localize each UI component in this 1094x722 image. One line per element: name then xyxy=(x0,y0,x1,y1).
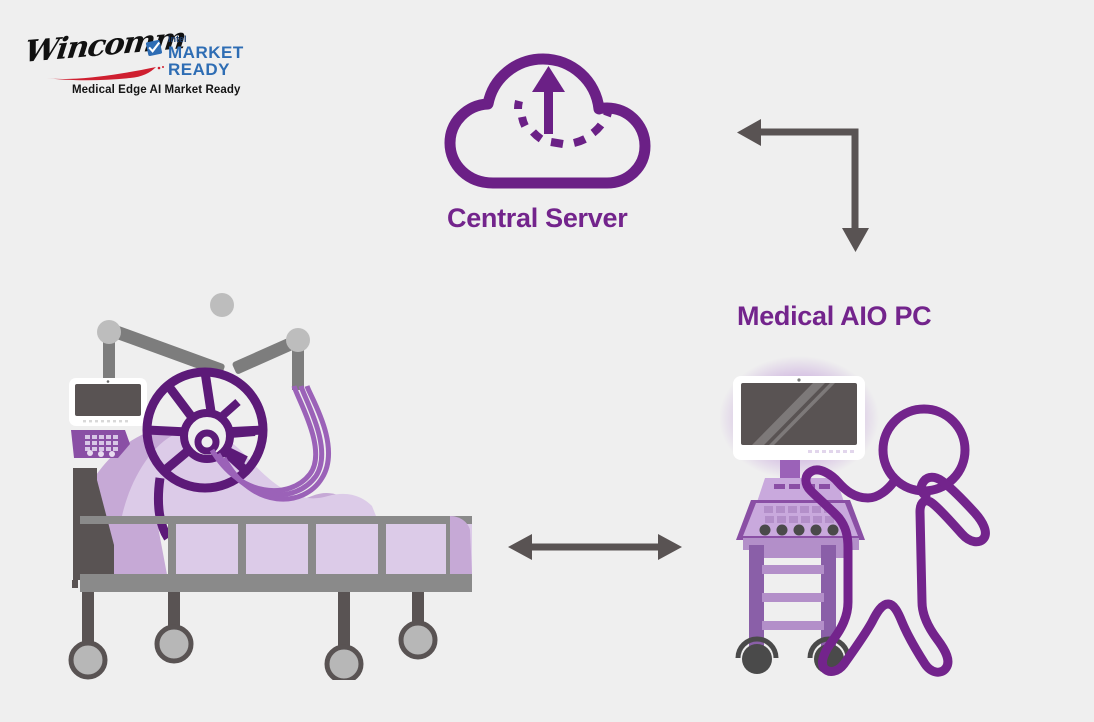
cloud-upload-icon xyxy=(441,40,656,190)
market-ready-line-1: MARKET xyxy=(168,44,244,61)
brand-logo-block: Wincomm intel MARKET READY Medical Edge … xyxy=(24,22,264,102)
monitor-neck xyxy=(780,460,800,478)
bed-to-pc-connector-arrow xyxy=(505,530,685,564)
medical-imaging-bed-icon xyxy=(60,290,480,680)
arm-monitor xyxy=(69,378,147,426)
intel-market-ready-logo: intel MARKET READY xyxy=(144,28,264,78)
market-ready-line-2: READY xyxy=(168,61,230,78)
brand-tagline: Medical Edge AI Market Ready xyxy=(72,84,241,96)
medical-aio-pc-cart-icon xyxy=(720,350,1030,680)
medical-aio-pc-label: Medical AIO PC xyxy=(737,301,931,332)
diagram-canvas: Wincomm intel MARKET READY Medical Edge … xyxy=(0,0,1094,722)
central-server-label: Central Server xyxy=(447,203,627,234)
aio-cart xyxy=(738,545,850,674)
bed-legs-wheels xyxy=(71,592,435,680)
server-to-pc-connector-arrow xyxy=(725,115,880,260)
intel-diamond-check-icon xyxy=(144,38,164,58)
wincomm-logo: Wincomm xyxy=(26,32,156,78)
